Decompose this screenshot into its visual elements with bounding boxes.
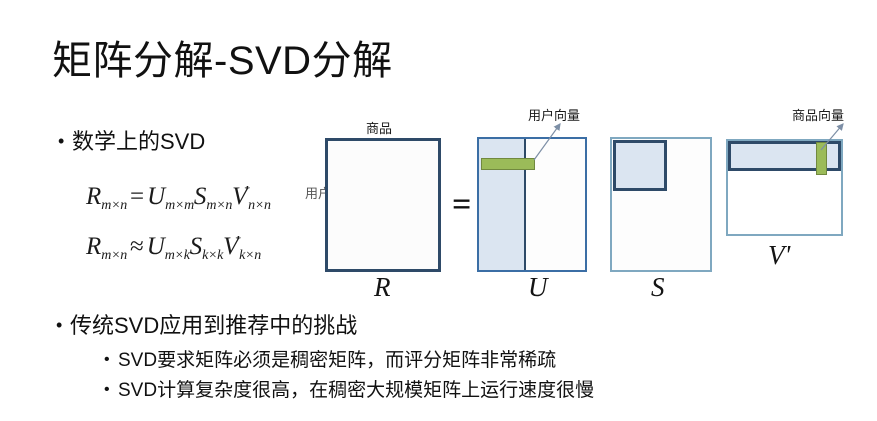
slide-canvas: 矩阵分解-SVD分解 •数学上的SVD •传统SVD应用到推荐中的挑战 •SVD… bbox=[0, 0, 877, 421]
svd-decomposition-diagram: 商品 用户 R = U S V' 用户向量 商品向量 bbox=[0, 0, 877, 421]
annotation-arrows bbox=[0, 0, 877, 421]
arrow-item-vector bbox=[821, 124, 843, 150]
arrow-user-vector bbox=[534, 124, 560, 160]
